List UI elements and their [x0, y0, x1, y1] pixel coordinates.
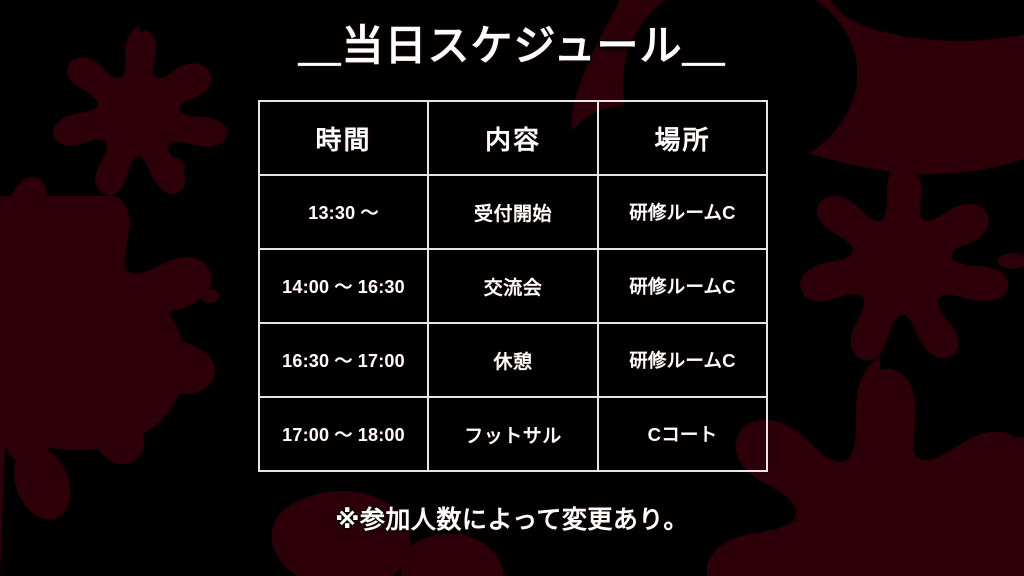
- cell-place: 研修ルームC: [598, 323, 767, 397]
- cell-time: 17:00 〜 18:00: [259, 397, 428, 471]
- cell-content: 休憩: [428, 323, 598, 397]
- column-header-place: 場所: [598, 101, 767, 175]
- cell-time: 13:30 〜: [259, 175, 428, 249]
- cell-place: 研修ルームC: [598, 175, 767, 249]
- table-head: 時間 内容 場所: [259, 101, 767, 175]
- column-header-time: 時間: [259, 101, 428, 175]
- table-body: 13:30 〜 受付開始 研修ルームC 14:00 〜 16:30 交流会 研修…: [259, 175, 767, 471]
- table-header-row: 時間 内容 場所: [259, 101, 767, 175]
- cell-content: 交流会: [428, 249, 598, 323]
- cell-content: フットサル: [428, 397, 598, 471]
- table-row: 17:00 〜 18:00 フットサル Cコート: [259, 397, 767, 471]
- page-title: ＿当日スケジュール＿: [298, 22, 725, 70]
- slide-content: ＿当日スケジュール＿ 時間 内容 場所 13:30 〜 受付開始 研修ルームC: [0, 0, 1024, 576]
- cell-content: 受付開始: [428, 175, 598, 249]
- cell-time: 14:00 〜 16:30: [259, 249, 428, 323]
- cell-place: Cコート: [598, 397, 767, 471]
- cell-time: 16:30 〜 17:00: [259, 323, 428, 397]
- cell-place: 研修ルームC: [598, 249, 767, 323]
- table-row: 16:30 〜 17:00 休憩 研修ルームC: [259, 323, 767, 397]
- schedule-table: 時間 内容 場所 13:30 〜 受付開始 研修ルームC 14:00 〜 16:…: [258, 100, 768, 472]
- table-row: 14:00 〜 16:30 交流会 研修ルームC: [259, 249, 767, 323]
- slide-canvas: ＿当日スケジュール＿ 時間 内容 場所 13:30 〜 受付開始 研修ルームC: [0, 0, 1024, 576]
- footer-note: ※参加人数によって変更あり。: [335, 500, 689, 536]
- title-container: ＿当日スケジュール＿: [0, 22, 1024, 70]
- footer-note-container: ※参加人数によって変更あり。: [0, 500, 1024, 536]
- column-header-content: 内容: [428, 101, 598, 175]
- table-row: 13:30 〜 受付開始 研修ルームC: [259, 175, 767, 249]
